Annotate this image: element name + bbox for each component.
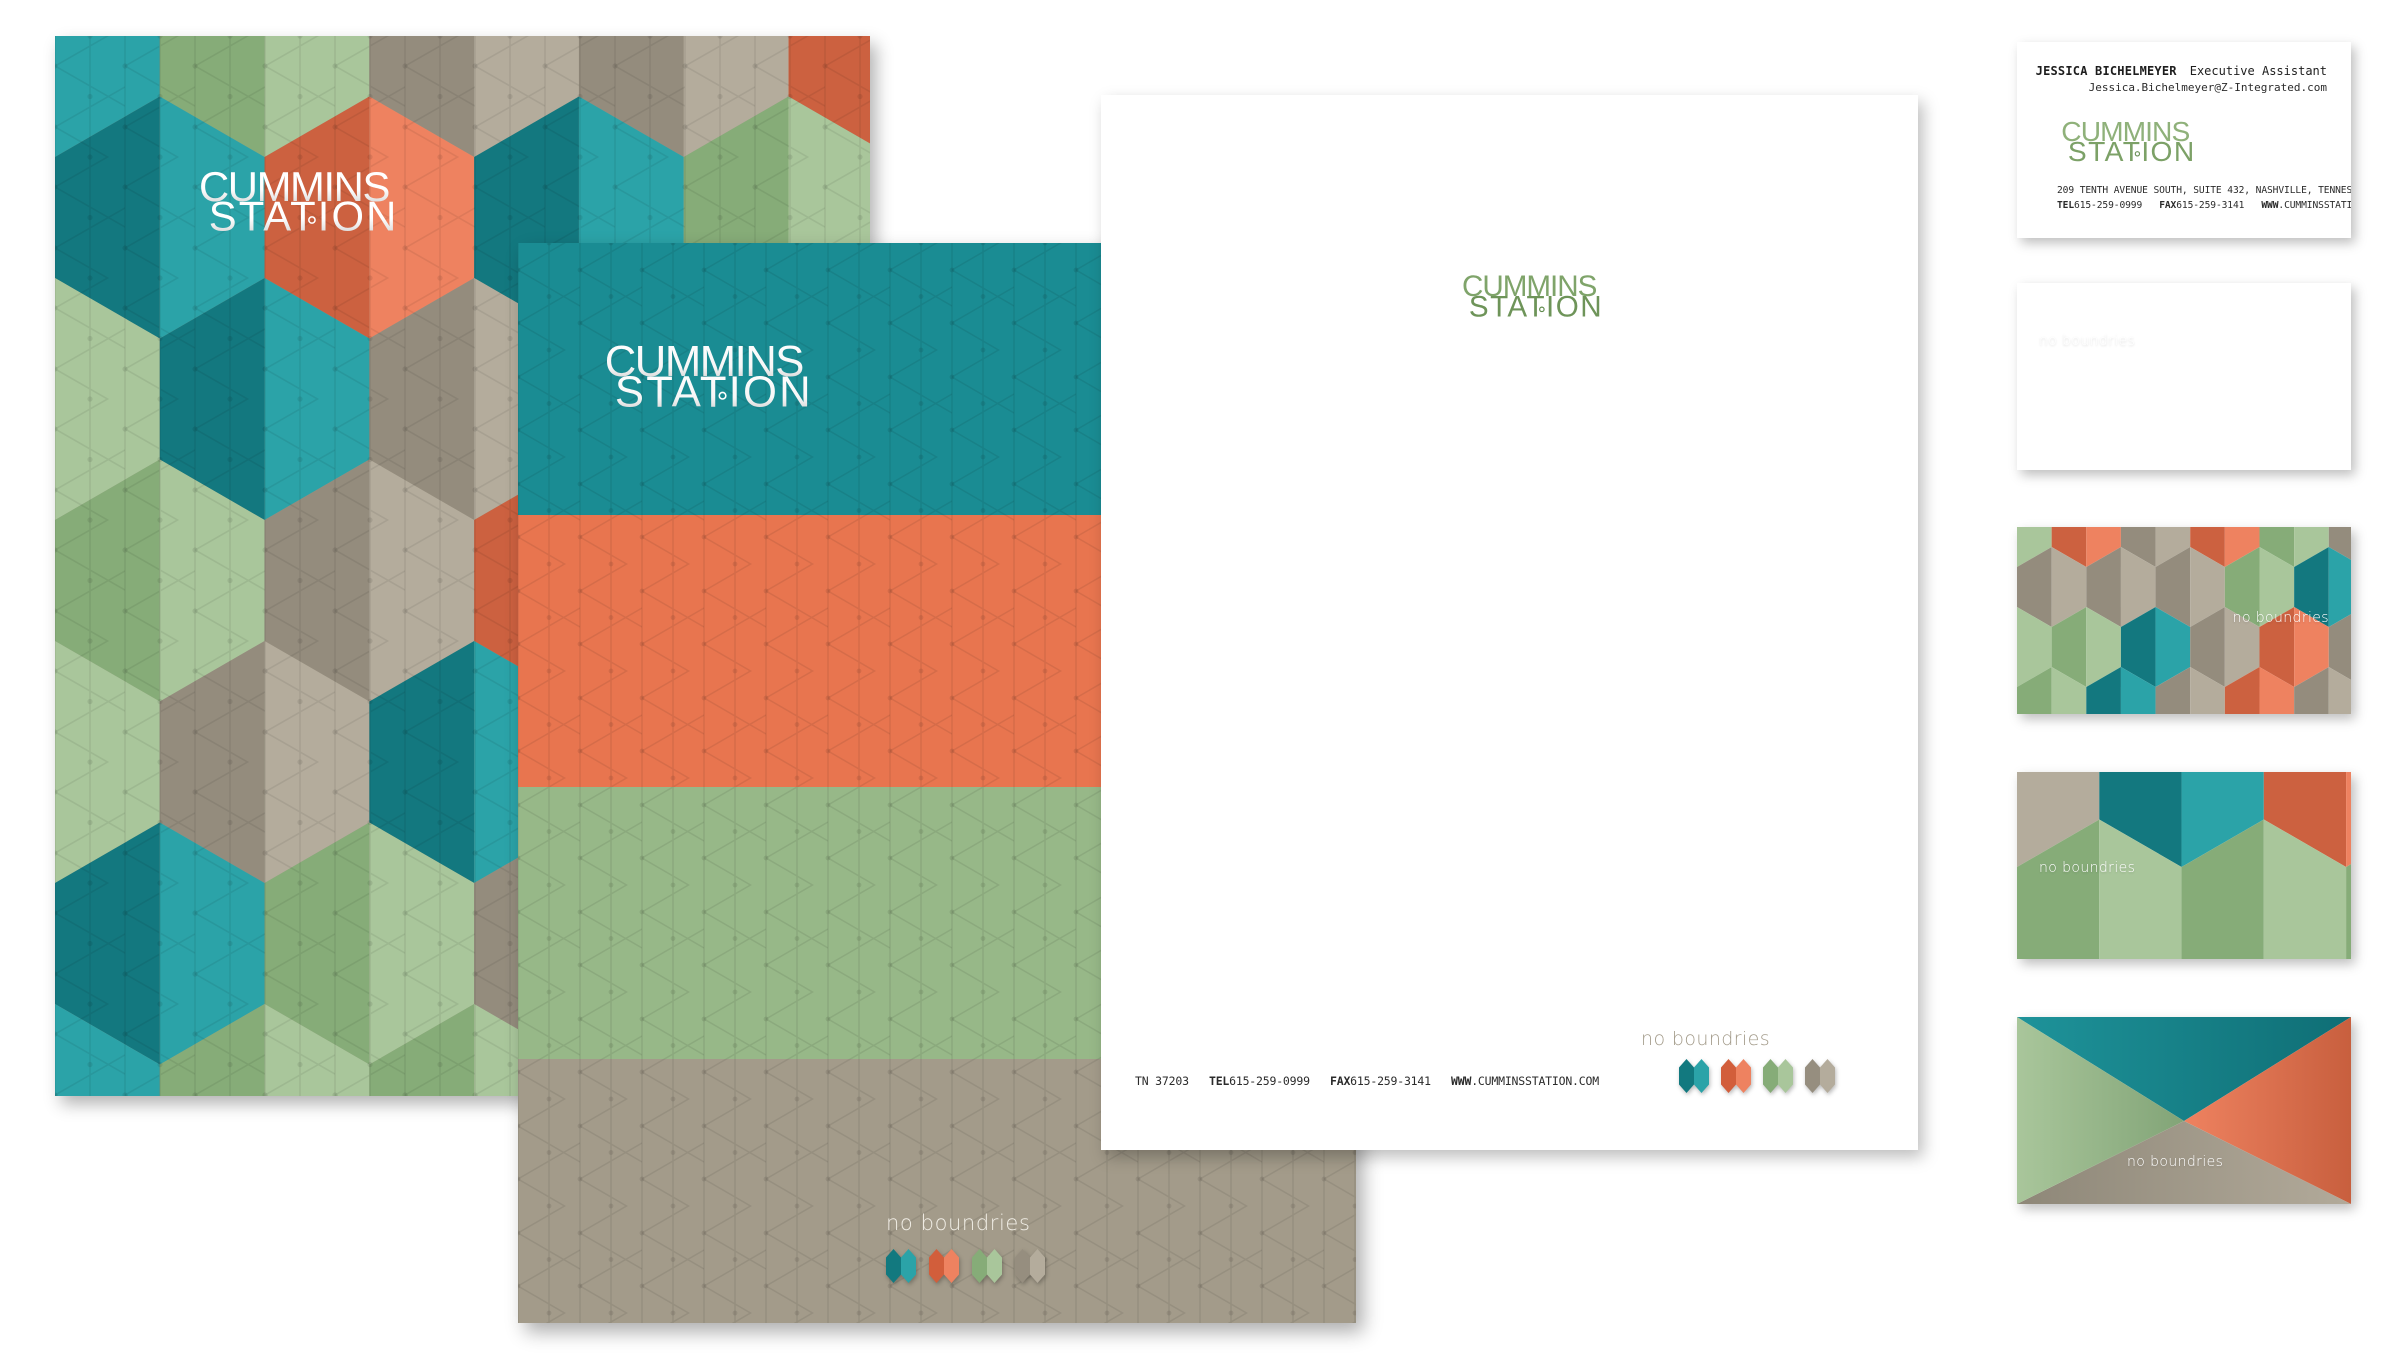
hex-left-face xyxy=(1679,1059,1694,1093)
poster-back-logo: CUMMINS STATION xyxy=(193,158,403,250)
hex-right-face xyxy=(1030,1249,1045,1283)
card-horizontal-stripes[interactable]: no boundries xyxy=(2017,283,2351,470)
contact-name: JESSICA BICHELMEYER xyxy=(2036,64,2177,78)
letterhead-tagline: no boundries xyxy=(1641,1028,1770,1050)
stripe-taupe xyxy=(2017,423,2351,470)
business-card-address: 209 TENTH AVENUE SOUTH, SUITE 432, NASHV… xyxy=(2057,184,2351,214)
tel-value: 615-259-0999 xyxy=(2074,200,2142,211)
hex-left-face xyxy=(1015,1249,1030,1283)
folder-swatch-row xyxy=(886,1249,1045,1283)
letterhead-swatch-row xyxy=(1679,1059,1835,1093)
address-line: 209 TENTH AVENUE SOUTH, SUITE 432, NASHV… xyxy=(2057,184,2351,199)
web-label: WWW xyxy=(1451,1074,1471,1088)
hex-right-face xyxy=(2329,547,2351,627)
hex-right-face xyxy=(1736,1059,1751,1093)
tel-value: 615-259-0999 xyxy=(1229,1074,1310,1088)
green-swatch-icon xyxy=(972,1249,1002,1283)
orange-swatch-icon xyxy=(1721,1059,1751,1093)
hex-right-face xyxy=(944,1249,959,1283)
fax-value: 615-259-3141 xyxy=(2176,200,2244,211)
tel-label: TEL xyxy=(2057,200,2074,211)
teal-swatch-icon xyxy=(1679,1059,1709,1093)
logo-line2: STATION xyxy=(2068,135,2196,167)
stripe-teal xyxy=(2017,283,2351,330)
card-small-hex-mosaic[interactable]: no boundries xyxy=(2017,527,2351,714)
design-portfolio-canvas: CUMMINS STATION xyxy=(0,0,2400,1355)
logo-line2: STATION xyxy=(1469,291,1603,324)
business-card-logo: CUMMINS STATION xyxy=(2057,112,2199,174)
hex-right-face xyxy=(1694,1059,1709,1093)
hex-right-face xyxy=(901,1249,916,1283)
letterhead-footer: TN 37203 TEL615-259-0999 FAX615-259-3141… xyxy=(1101,1000,1918,1150)
folder-tagline: no boundries xyxy=(886,1211,1031,1235)
taupe-swatch-icon xyxy=(1805,1059,1835,1093)
orange-swatch-icon xyxy=(929,1249,959,1283)
logo-line2: STATION xyxy=(615,369,813,417)
card-four-triangles[interactable]: no boundries xyxy=(2017,1017,2351,1204)
letterhead-address: TN 37203 TEL615-259-0999 FAX615-259-3141… xyxy=(1135,1074,1599,1088)
contact-line: TEL615-259-0999 FAX615-259-3141 WWW.CUMM… xyxy=(2057,199,2351,214)
hex-left-face xyxy=(972,1249,987,1283)
teal-swatch-icon xyxy=(886,1249,916,1283)
folder-logo: CUMMINS STATION xyxy=(598,331,818,427)
hex-left-face xyxy=(1805,1059,1820,1093)
web-value: .CUMMINSSTATION.COM xyxy=(2278,200,2351,211)
green-swatch-icon xyxy=(1763,1059,1793,1093)
fax-value: 615-259-3141 xyxy=(1350,1074,1431,1088)
addr-city-zip: TN 37203 xyxy=(1135,1074,1189,1088)
hex-left-face xyxy=(886,1249,901,1283)
card-tagline: no boundries xyxy=(2127,1154,2223,1170)
card-tagline: no boundries xyxy=(2039,860,2135,876)
hex-right-face xyxy=(987,1249,1002,1283)
contact-role: Executive Assistant xyxy=(2190,64,2327,78)
letterhead-logo: CUMMINS STATION xyxy=(1458,265,1606,331)
card-tagline: no boundries xyxy=(2039,333,2135,349)
logo-line2: STATION xyxy=(209,192,399,239)
hex-right-face xyxy=(1778,1059,1793,1093)
card-tagline: no boundries xyxy=(2233,610,2329,626)
letterhead[interactable]: CUMMINS STATION TN 37203 TEL615-259-0999… xyxy=(1101,95,1918,1150)
triangle-composition xyxy=(2017,1017,2351,1204)
contact-name-line: JESSICA BICHELMEYERExecutive Assistant xyxy=(2036,64,2327,78)
stripe-green xyxy=(2017,377,2351,424)
hex-left-face xyxy=(929,1249,944,1283)
web-value: .CUMMINSSTATION.COM xyxy=(1471,1074,1599,1088)
hex-left-face xyxy=(1721,1059,1736,1093)
business-card[interactable]: JESSICA BICHELMEYERExecutive Assistant J… xyxy=(2017,42,2351,238)
tel-label: TEL xyxy=(1209,1074,1229,1088)
hex-right-face xyxy=(1820,1059,1835,1093)
hex-right-face xyxy=(2346,772,2351,867)
hex-left-face xyxy=(1763,1059,1778,1093)
fax-label: FAX xyxy=(1330,1074,1350,1088)
taupe-swatch-icon xyxy=(1015,1249,1045,1283)
fax-label: FAX xyxy=(2159,200,2176,211)
web-label: WWW xyxy=(2261,200,2278,211)
contact-email[interactable]: Jessica.Bichelmeyer@Z-Integrated.com xyxy=(2089,81,2327,94)
card-large-hex-mosaic[interactable]: no boundries xyxy=(2017,772,2351,959)
